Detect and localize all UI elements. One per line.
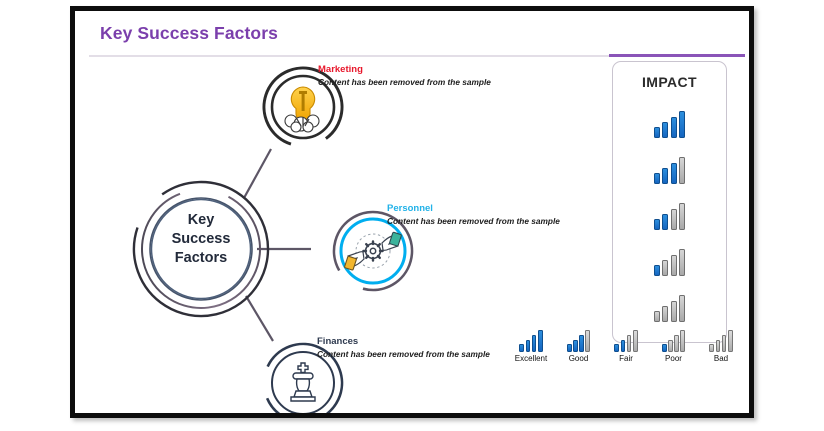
- legend-bar: [709, 344, 714, 352]
- impact-panel: IMPACT: [612, 61, 727, 343]
- branch-label-marketing: Marketing Content has been removed from …: [318, 64, 491, 88]
- legend-bar: [722, 335, 727, 352]
- legend-rating-meter: [653, 326, 695, 352]
- legend-bar: [526, 340, 531, 352]
- center-line-3: Factors: [153, 249, 249, 268]
- center-line-1: Key: [153, 211, 249, 230]
- impact-bar: [662, 214, 668, 230]
- legend-bar: [728, 330, 733, 352]
- legend-bar: [716, 340, 721, 352]
- legend-bar: [614, 344, 619, 352]
- branch-body-finances: Content has been removed from the sample: [317, 348, 490, 360]
- legend-item: Excellent: [510, 326, 552, 372]
- impact-rating-meter: [613, 104, 726, 138]
- impact-bar: [671, 209, 677, 230]
- center-line-2: Success: [153, 230, 249, 249]
- impact-bar: [654, 219, 660, 230]
- legend-bar: [668, 340, 673, 352]
- branch-heading-finances: Finances: [317, 336, 490, 348]
- impact-bar: [679, 203, 685, 230]
- impact-panel-title: IMPACT: [613, 74, 726, 90]
- legend-rating-meter: [700, 326, 742, 352]
- legend-bar: [627, 335, 632, 352]
- impact-legend: ExcellentGoodFairPoorBad: [510, 326, 742, 372]
- impact-bar: [671, 255, 677, 276]
- impact-bar: [654, 127, 660, 138]
- impact-rating-meter: [613, 242, 726, 276]
- impact-rating-meter: [613, 196, 726, 230]
- impact-bar: [679, 157, 685, 184]
- connector-to-finances: [246, 296, 273, 341]
- impact-row: [613, 150, 726, 184]
- legend-item: Good: [558, 326, 600, 372]
- impact-bar: [671, 163, 677, 184]
- impact-bar: [662, 122, 668, 138]
- impact-bar: [679, 111, 685, 138]
- slide-frame: Key Success Factors: [70, 6, 754, 418]
- legend-label: Poor: [653, 354, 695, 363]
- impact-bar: [662, 260, 668, 276]
- branch-heading-personnel: Personnel: [387, 203, 560, 215]
- legend-bar: [674, 335, 679, 352]
- legend-rating-meter: [605, 326, 647, 352]
- legend-label: Good: [558, 354, 600, 363]
- impact-bar: [654, 311, 660, 322]
- impact-row: [613, 288, 726, 322]
- legend-rating-meter: [510, 326, 552, 352]
- impact-rating-meter: [613, 150, 726, 184]
- legend-bar: [532, 335, 537, 352]
- center-node-label: Key Success Factors: [153, 211, 249, 268]
- impact-bar: [671, 301, 677, 322]
- legend-item: Fair: [605, 326, 647, 372]
- legend-label: Excellent: [510, 354, 552, 363]
- impact-bar: [662, 306, 668, 322]
- impact-bar: [679, 249, 685, 276]
- legend-bar: [680, 330, 685, 352]
- legend-label: Bad: [700, 354, 742, 363]
- impact-bar: [671, 117, 677, 138]
- legend-bar: [567, 344, 572, 352]
- legend-bar: [538, 330, 543, 352]
- impact-bar: [662, 168, 668, 184]
- legend-item: Poor: [653, 326, 695, 372]
- impact-bar: [679, 295, 685, 322]
- impact-rating-meter: [613, 288, 726, 322]
- legend-bar: [579, 335, 584, 352]
- legend-label: Fair: [605, 354, 647, 363]
- impact-bar: [654, 173, 660, 184]
- branch-label-personnel: Personnel Content has been removed from …: [387, 203, 560, 227]
- legend-rating-meter: [558, 326, 600, 352]
- legend-bar: [585, 330, 590, 352]
- connector-lines: [244, 149, 311, 341]
- legend-bar: [633, 330, 638, 352]
- branch-heading-marketing: Marketing: [318, 64, 491, 76]
- legend-item: Bad: [700, 326, 742, 372]
- legend-bar: [519, 344, 524, 352]
- branch-body-personnel: Content has been removed from the sample: [387, 215, 560, 227]
- connector-to-marketing: [244, 149, 271, 198]
- branch-body-marketing: Content has been removed from the sample: [318, 76, 491, 88]
- impact-row: [613, 104, 726, 138]
- legend-bar: [573, 340, 578, 352]
- impact-bar: [654, 265, 660, 276]
- branch-label-finances: Finances Content has been removed from t…: [317, 336, 490, 360]
- impact-row: [613, 242, 726, 276]
- legend-bar: [662, 344, 667, 352]
- impact-row: [613, 196, 726, 230]
- legend-bar: [621, 340, 626, 352]
